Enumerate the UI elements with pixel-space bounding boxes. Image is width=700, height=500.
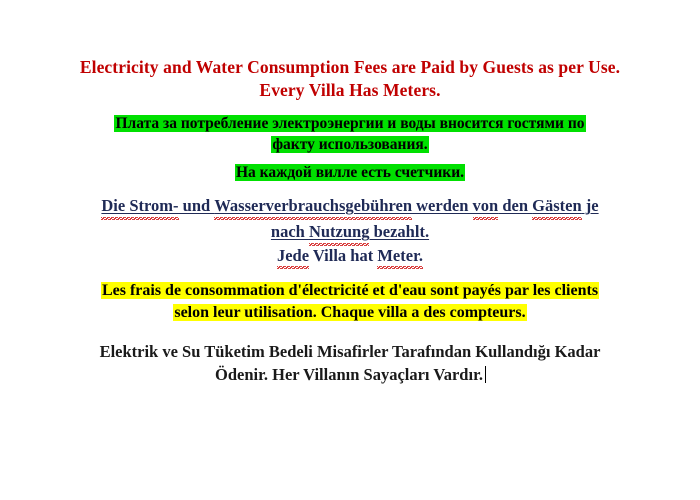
russian-line-2-text: факту использования.: [271, 136, 428, 153]
german-word-nach: nach: [271, 222, 309, 241]
text-cursor-caret: [485, 366, 486, 383]
notice-document: Electricity and Water Consumption Fees a…: [0, 0, 700, 500]
german-word-jede: Jede: [277, 245, 309, 269]
english-line-1: Electricity and Water Consumption Fees a…: [40, 56, 660, 79]
german-line-1-run: Die Strom- und Wasserverbrauchsgebühren …: [100, 196, 599, 215]
english-line-2-text: Every Villa Has Meters.: [258, 80, 441, 100]
german-word-meter: Meter.: [377, 245, 423, 269]
german-sep-2: werden: [412, 196, 473, 215]
english-line-1-text: Electricity and Water Consumption Fees a…: [79, 57, 621, 77]
french-line-1-text: Les frais de consommation d'électricité …: [101, 282, 599, 299]
notice-block-german-meters: Jede Villa hat Meter.: [40, 245, 660, 269]
russian-line-3: На каждой вилле есть счетчики.: [40, 163, 660, 183]
german-sep-4: je: [582, 196, 599, 215]
french-line-2: selon leur utilisation. Chaque villa a d…: [40, 302, 660, 324]
turkish-line-1: Elektrik ve Su Tüketim Bedeli Misafirler…: [40, 340, 660, 363]
german-sep-1: und: [179, 196, 215, 215]
turkish-line-1-text: Elektrik ve Su Tüketim Bedeli Misafirler…: [99, 342, 602, 361]
german-word-bezahlt: bezahlt.: [369, 222, 429, 241]
german-word-nutzung: Nutzung: [309, 220, 370, 246]
german-sep-3: den: [498, 196, 532, 215]
notice-block-german: Die Strom- und Wasserverbrauchsgebühren …: [40, 194, 660, 246]
turkish-line-2-text: Ödenir. Her Villanın Sayaçları Vardır.: [214, 365, 484, 384]
german-line-3: Jede Villa hat Meter.: [40, 245, 660, 269]
german-word-gaesten: Gästen: [532, 194, 582, 220]
german-line-2-run: nach Nutzung bezahlt.: [270, 222, 430, 241]
german-word-von: von: [473, 194, 499, 220]
german-word-wasserverbrauchsgebuehren: Wasserverbrauchsgebühren: [214, 194, 412, 220]
french-line-2-text: selon leur utilisation. Chaque villa a d…: [173, 304, 526, 321]
german-line-1: Die Strom- und Wasserverbrauchsgebühren …: [40, 194, 660, 220]
notice-block-russian: Плата за потребление электроэнергии и во…: [40, 113, 660, 156]
notice-block-turkish: Elektrik ve Su Tüketim Bedeli Misafirler…: [40, 340, 660, 387]
german-word-strom: Die Strom-: [101, 194, 178, 220]
german-line-3-run: Jede Villa hat Meter.: [276, 246, 424, 265]
notice-block-english: Electricity and Water Consumption Fees a…: [40, 56, 660, 102]
notice-block-french: Les frais de consommation d'électricité …: [40, 280, 660, 325]
french-line-1: Les frais de consommation d'électricité …: [40, 280, 660, 302]
german-sep-5: Villa hat: [309, 246, 377, 265]
russian-line-2: факту использования.: [40, 134, 660, 155]
english-line-2: Every Villa Has Meters.: [40, 79, 660, 102]
russian-line-1: Плата за потребление электроэнергии и во…: [40, 113, 660, 134]
notice-block-russian-meters: На каждой вилле есть счетчики.: [40, 163, 660, 183]
german-line-2: nach Nutzung bezahlt.: [40, 220, 660, 246]
russian-line-3-text: На каждой вилле есть счетчики.: [235, 164, 465, 181]
turkish-line-2: Ödenir. Her Villanın Sayaçları Vardır.: [40, 363, 660, 386]
russian-line-1-text: Плата за потребление электроэнергии и во…: [114, 115, 585, 132]
